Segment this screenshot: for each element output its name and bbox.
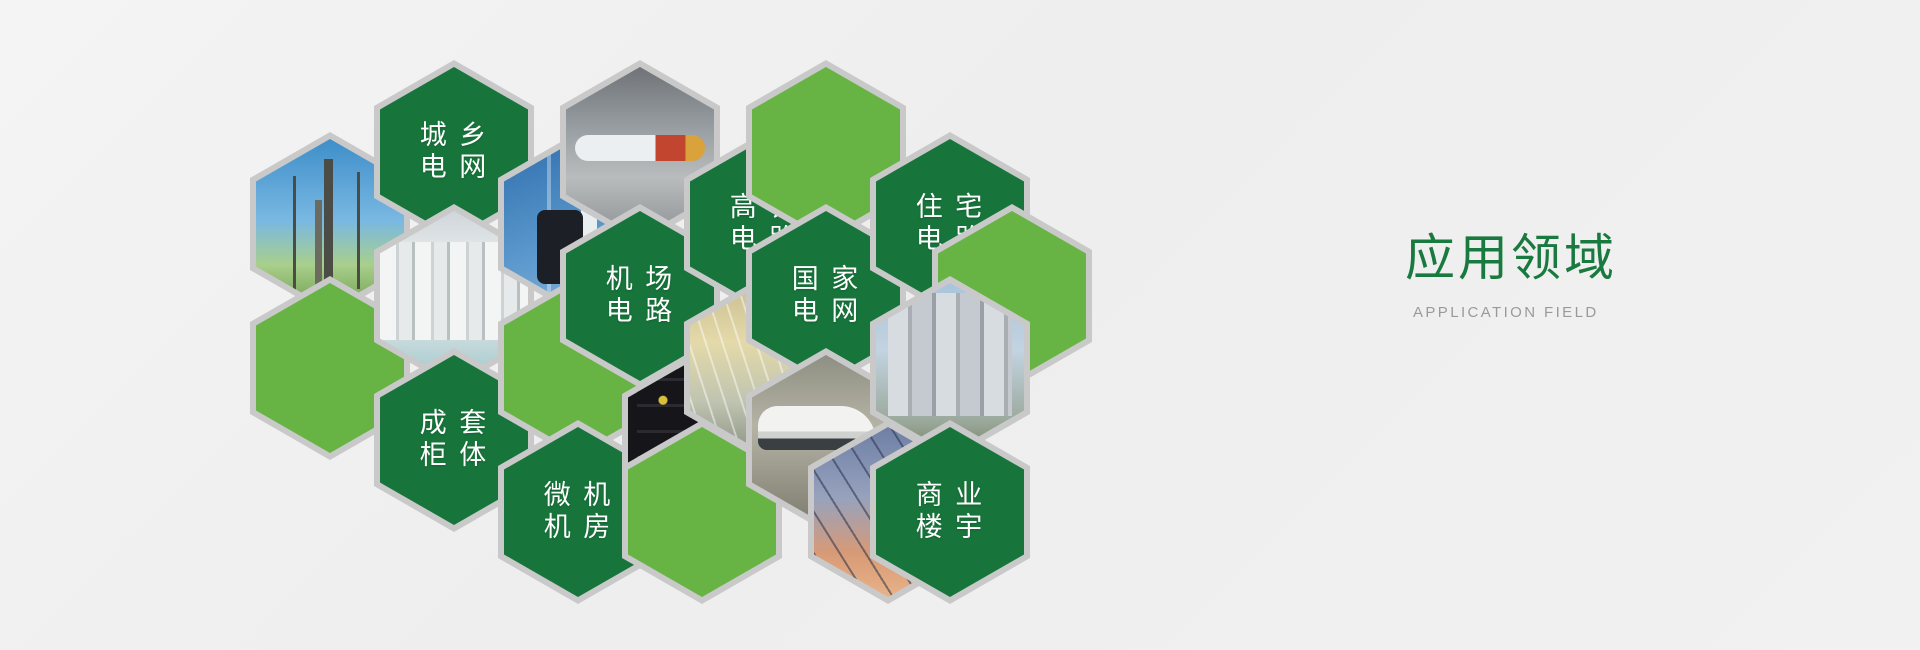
hex-label: 城 乡 电 网 [420, 120, 489, 184]
hex-label: 微 机 机 房 [544, 480, 613, 544]
hex-label: 机 场 电 路 [606, 264, 675, 328]
page-title: 应用领域 [1405, 218, 1835, 290]
hex-inner: 商 业 楼 宇 [876, 427, 1024, 597]
page-subtitle: APPLICATION FIELD [1413, 304, 1835, 321]
hex-label: 国 家 电 网 [792, 264, 861, 328]
hex-label: 成 套 柜 体 [420, 408, 489, 472]
application-field-banner: 城 乡 电 网成 套 柜 体机 场 电 路高 铁 电 路微 机 机 房国 家 电… [0, 0, 1920, 650]
title-block: 应用领域 APPLICATION FIELD [1405, 218, 1835, 321]
hexagon-cluster: 城 乡 电 网成 套 柜 体机 场 电 路高 铁 电 路微 机 机 房国 家 电… [250, 40, 1350, 600]
hex-label: 商 业 楼 宇 [916, 480, 985, 544]
